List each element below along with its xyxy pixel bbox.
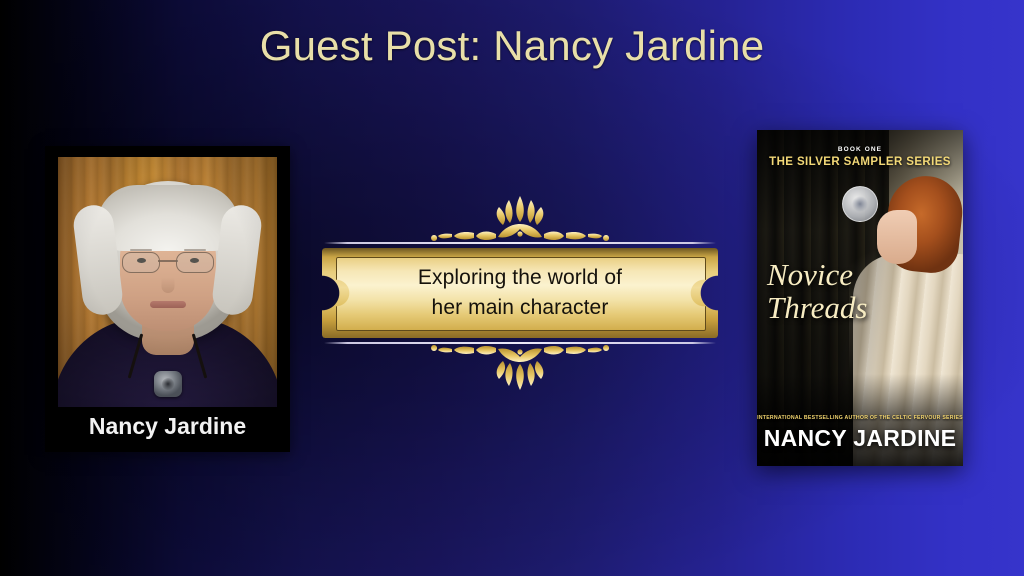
book-author-name: NANCY JARDINE	[757, 425, 963, 452]
author-photo-caption: Nancy Jardine	[45, 413, 290, 440]
plaque-text-block: Exploring the world of her main characte…	[322, 248, 718, 338]
book-title-line-2: Threads	[767, 291, 907, 324]
photo-vignette	[58, 157, 277, 407]
book-author-block: INTERNATIONAL BESTSELLING AUTHOR OF THE …	[757, 415, 963, 452]
plaque-line-2: her main character	[432, 293, 609, 323]
plaque-line-1: Exploring the world of	[418, 263, 622, 293]
author-portrait-icon	[58, 157, 277, 407]
profile-face-shape	[877, 210, 917, 264]
book-number-label: BOOK ONE	[757, 146, 963, 153]
floral-palmette-ornament-icon	[425, 344, 615, 400]
slide-canvas: Guest Post: Nancy Jardine	[0, 0, 1024, 576]
center-plaque-group: Exploring the world of her main characte…	[322, 186, 718, 400]
book-series-label: THE SILVER SAMPLER SERIES	[757, 156, 963, 168]
plaque-panel: Exploring the world of her main characte…	[322, 248, 718, 338]
book-cover-image: BOOK ONE THE SILVER SAMPLER SERIES Novic…	[757, 130, 963, 466]
book-series-block: BOOK ONE THE SILVER SAMPLER SERIES	[757, 146, 963, 168]
silver-award-seal-icon	[842, 186, 878, 222]
floral-palmette-ornament-icon	[425, 186, 615, 242]
plaque-rule-top	[324, 242, 716, 244]
author-photo-card: Nancy Jardine	[45, 146, 290, 452]
book-title-line-1: Novice	[767, 258, 907, 291]
page-title: Guest Post: Nancy Jardine	[0, 22, 1024, 70]
book-title: Novice Threads	[767, 258, 907, 324]
book-kicker-label: INTERNATIONAL BESTSELLING AUTHOR OF THE …	[757, 415, 963, 421]
